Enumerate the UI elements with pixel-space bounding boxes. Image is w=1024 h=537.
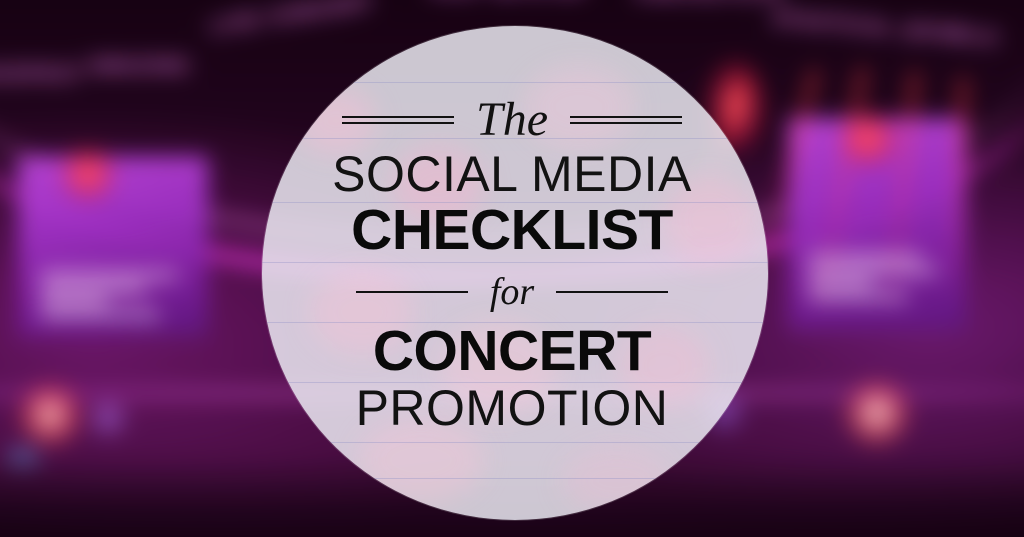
the-row: The: [0, 96, 1024, 144]
for-row: for: [0, 273, 1024, 311]
ornament-rule-left-single: [356, 291, 468, 293]
banner-text-1: AMAZING: [88, 56, 191, 78]
headline-concert: CONCERT: [0, 323, 1024, 380]
ornament-rule-left-double: [342, 116, 454, 124]
headline-the: The: [476, 96, 548, 144]
headline-social-media: SOCIAL MEDIA: [0, 148, 1024, 200]
ruled-line: [262, 442, 768, 443]
headline-checklist: CHECKLIST: [0, 202, 1024, 259]
ornament-rule-right-single: [556, 291, 668, 293]
banner-text-4: FANTASTICAL: [636, 0, 789, 4]
ornament-rule-right-double: [570, 116, 682, 124]
banner-text-0: NCEPEST: [0, 64, 84, 86]
headline-text-block: The SOCIAL MEDIA CHECKLIST for CONCERT P…: [0, 96, 1024, 434]
headline-for: for: [490, 273, 534, 311]
headline-promotion: PROMOTION: [0, 382, 1024, 434]
graphic-canvas: NCEPEST AMAZING LIVE CONCERT FEST WITH M…: [0, 0, 1024, 537]
